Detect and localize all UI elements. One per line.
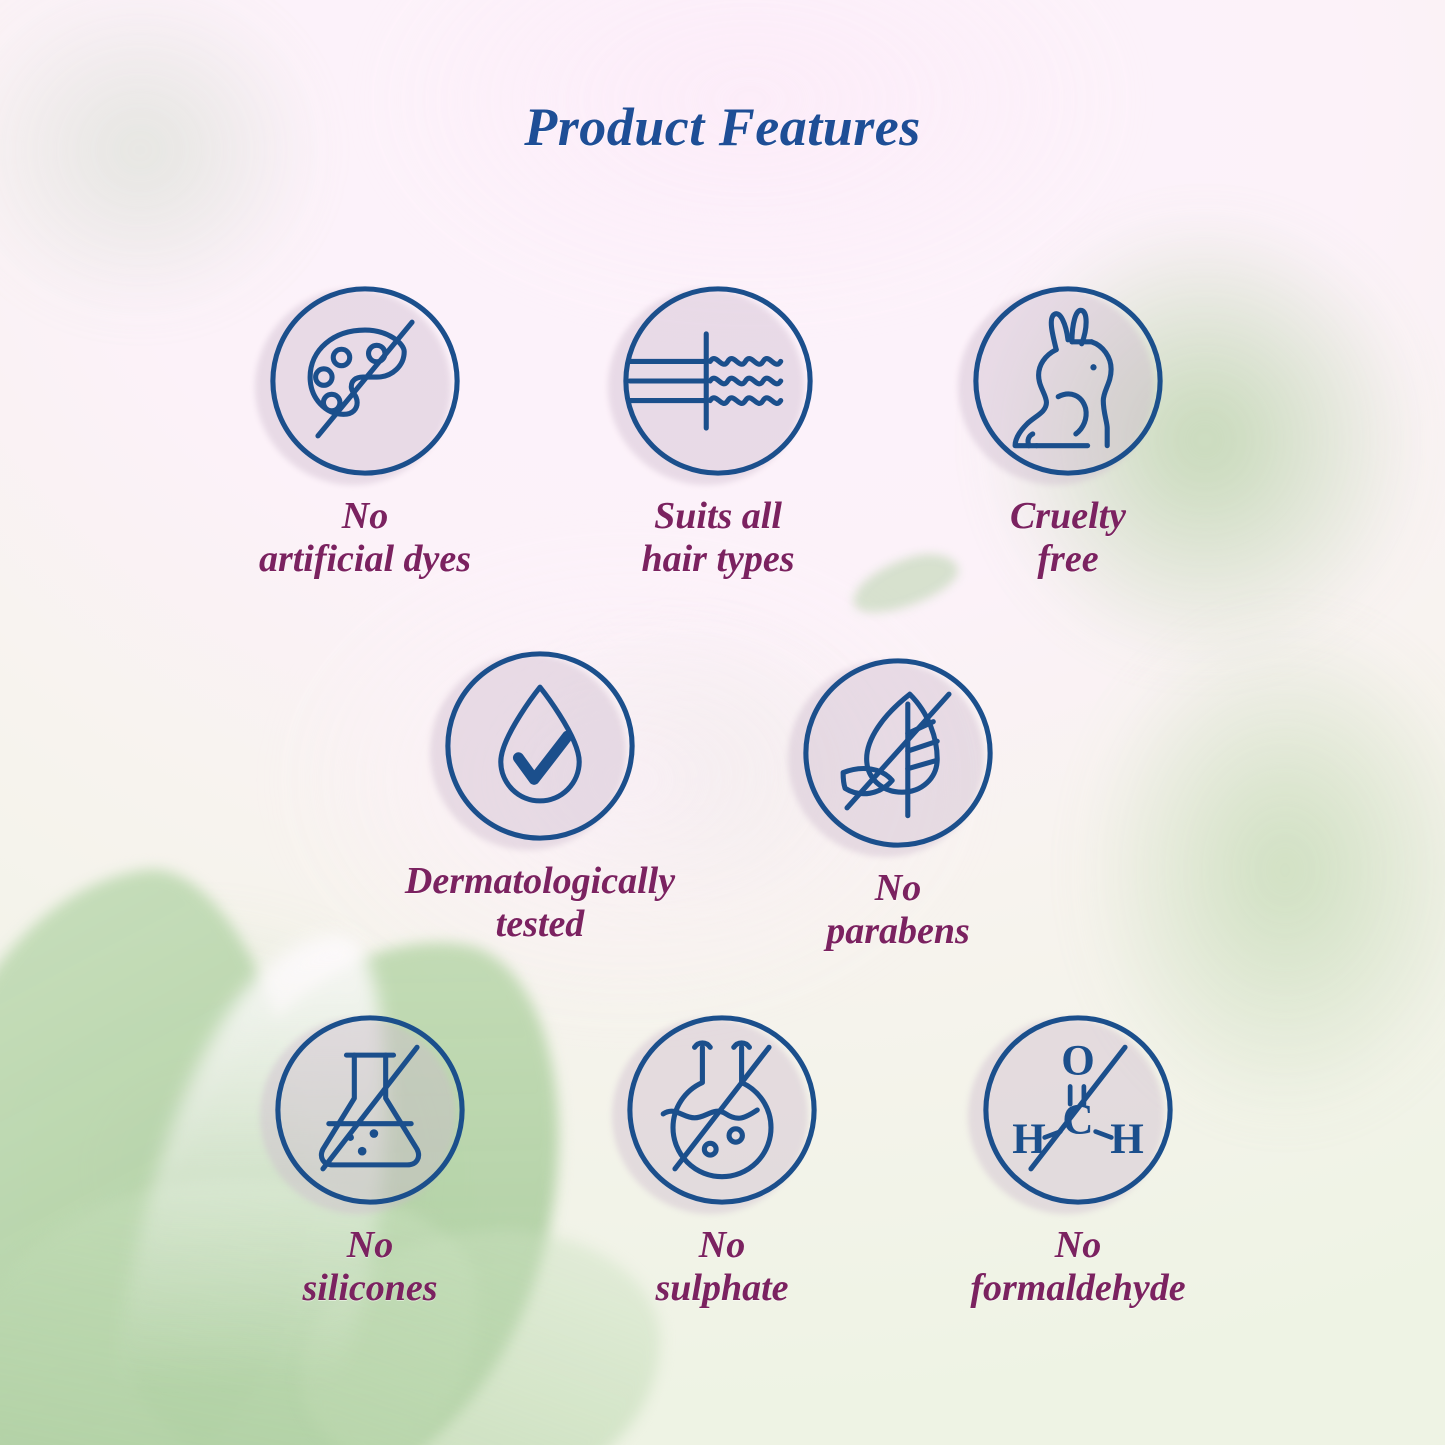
caption-line-2: silicones bbox=[220, 1267, 520, 1310]
molecule-label-h-right: H bbox=[1110, 1116, 1144, 1163]
caption-line-2: artificial dyes bbox=[215, 538, 515, 581]
feature-no-sulphate: No sulphate bbox=[572, 1012, 872, 1309]
feature-caption: Dermatologically tested bbox=[390, 860, 690, 945]
caption-line-2: hair types bbox=[568, 538, 868, 581]
paint-palette-prohibited-icon bbox=[267, 283, 463, 479]
round-flask-prohibited-icon bbox=[624, 1012, 820, 1208]
feature-dermatologically-tested: Dermatologically tested bbox=[390, 648, 690, 945]
feature-no-silicones: No silicones bbox=[220, 1012, 520, 1309]
formaldehyde-molecule-prohibited-icon: O C H H bbox=[980, 1012, 1176, 1208]
feature-caption: No sulphate bbox=[572, 1224, 872, 1309]
caption-line-1: No bbox=[928, 1224, 1228, 1267]
water-droplet-checkmark-icon bbox=[442, 648, 638, 844]
feature-caption: No artificial dyes bbox=[215, 495, 515, 580]
straight-and-wavy-hair-icon bbox=[620, 283, 816, 479]
rabbit-icon bbox=[970, 283, 1166, 479]
caption-line-2: formaldehyde bbox=[928, 1267, 1228, 1310]
caption-line-2: sulphate bbox=[572, 1267, 872, 1310]
page-title: Product Features bbox=[0, 96, 1445, 158]
feature-no-parabens: No parabens bbox=[748, 655, 1048, 952]
molecule-label-o: O bbox=[1061, 1038, 1095, 1085]
feature-caption: No silicones bbox=[220, 1224, 520, 1309]
caption-line-1: Dermatologically bbox=[390, 860, 690, 903]
feature-suits-all-hair-types: Suits all hair types bbox=[568, 283, 868, 580]
feature-caption: Suits all hair types bbox=[568, 495, 868, 580]
caption-line-2: free bbox=[918, 538, 1218, 581]
caption-line-1: No bbox=[215, 495, 515, 538]
caption-line-1: No bbox=[220, 1224, 520, 1267]
infographic-canvas: Product Features No artificial dyes bbox=[0, 0, 1445, 1445]
leaf-prohibited-icon bbox=[800, 655, 996, 851]
feature-no-formaldehyde: O C H H No formaldehyde bbox=[928, 1012, 1228, 1309]
caption-line-1: No bbox=[572, 1224, 872, 1267]
feature-no-artificial-dyes: No artificial dyes bbox=[215, 283, 515, 580]
feature-caption: Cruelty free bbox=[918, 495, 1218, 580]
caption-line-1: No bbox=[748, 867, 1048, 910]
caption-line-1: Suits all bbox=[568, 495, 868, 538]
caption-line-1: Cruelty bbox=[918, 495, 1218, 538]
feature-caption: No formaldehyde bbox=[928, 1224, 1228, 1309]
erlenmeyer-flask-prohibited-icon bbox=[272, 1012, 468, 1208]
caption-line-2: parabens bbox=[748, 910, 1048, 953]
feature-cruelty-free: Cruelty free bbox=[918, 283, 1218, 580]
caption-line-2: tested bbox=[390, 903, 690, 946]
feature-caption: No parabens bbox=[748, 867, 1048, 952]
